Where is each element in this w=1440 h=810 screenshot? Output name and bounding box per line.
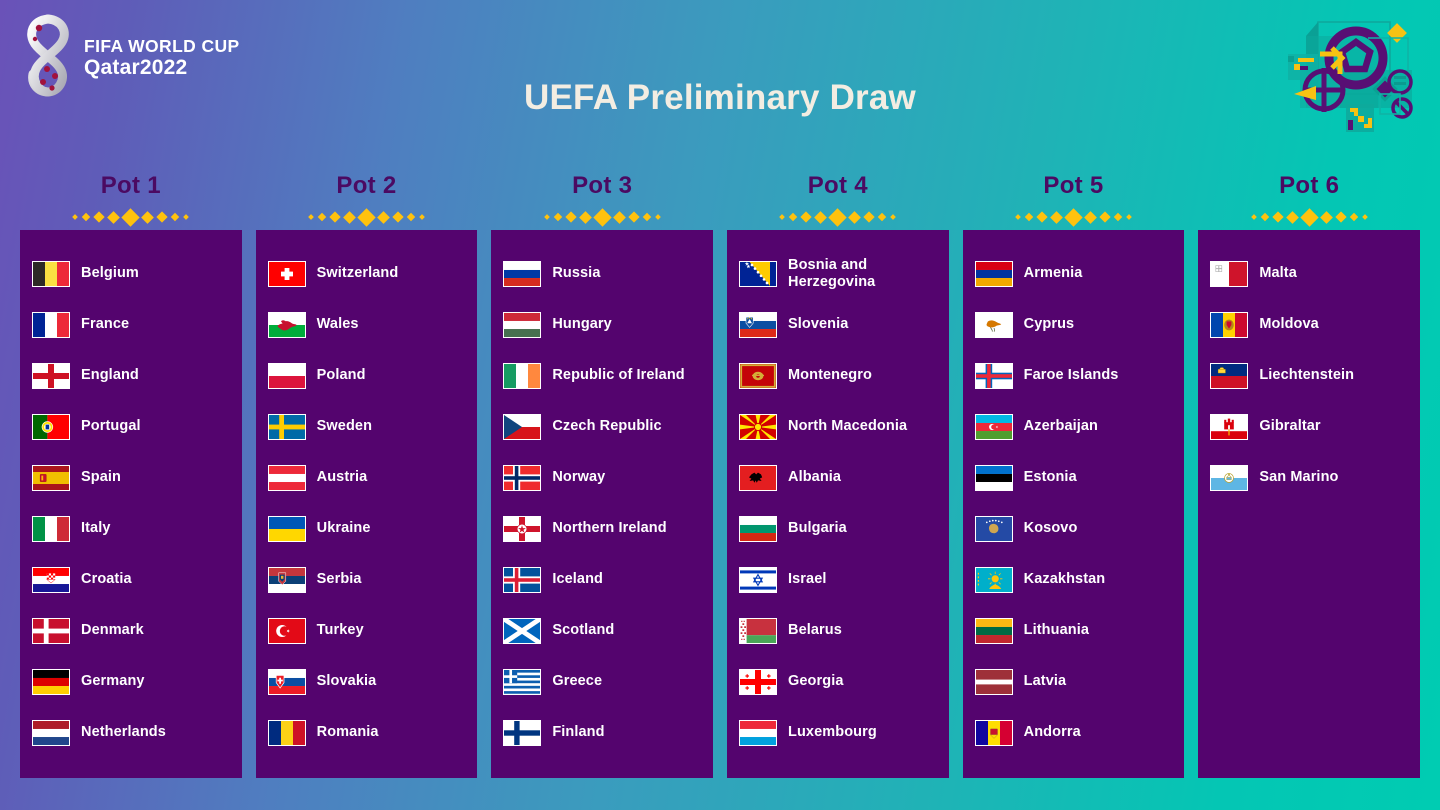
team-row[interactable]: France <box>32 299 230 350</box>
team-row[interactable]: North Macedonia <box>739 401 937 452</box>
pot-divider-diamonds <box>727 204 949 230</box>
team-row[interactable]: Portugal <box>32 401 230 452</box>
diamond-icon <box>407 213 415 221</box>
diamond-icon <box>1320 211 1333 224</box>
diamond-icon <box>357 208 375 226</box>
team-row[interactable]: Faroe Islands <box>975 350 1173 401</box>
team-name: Denmark <box>81 622 144 639</box>
team-name: Gibraltar <box>1259 418 1320 435</box>
diamond-icon <box>377 211 390 224</box>
diamond-icon <box>1335 211 1346 222</box>
team-row[interactable]: Sweden <box>268 401 466 452</box>
flag-czech-republic-icon <box>503 414 541 440</box>
team-name: Israel <box>788 571 827 588</box>
diamond-icon <box>82 213 90 221</box>
pot-title: Pot 5 <box>963 168 1185 204</box>
pot-panel: Bosnia and HerzegovinaSloveniaMontenegro… <box>727 230 949 778</box>
team-name: Albania <box>788 469 841 486</box>
team-row[interactable]: Slovakia <box>268 656 466 707</box>
diamond-icon <box>565 211 576 222</box>
pot-panel: ArmeniaCyprusFaroe IslandsAzerbaijanEsto… <box>963 230 1185 778</box>
flag-gibraltar-icon <box>1210 414 1248 440</box>
flag-malta-icon <box>1210 261 1248 287</box>
diamond-icon <box>1025 213 1033 221</box>
team-row[interactable]: Norway <box>503 452 701 503</box>
diamond-icon <box>553 213 561 221</box>
flag-belgium-icon <box>32 261 70 287</box>
flag-germany-icon <box>32 669 70 695</box>
team-name: Sweden <box>317 418 372 435</box>
team-name: Faroe Islands <box>1024 367 1119 384</box>
pot-column-1: Pot 1BelgiumFranceEnglandPortugalSpainIt… <box>20 168 242 778</box>
team-row[interactable]: Russia <box>503 248 701 299</box>
flag-scotland-icon <box>503 618 541 644</box>
diamond-icon <box>1099 211 1110 222</box>
team-name: Cyprus <box>1024 316 1075 333</box>
team-name: Iceland <box>552 571 603 588</box>
flag-northern-ireland-icon <box>503 516 541 542</box>
team-name: Belgium <box>81 265 139 282</box>
flag-luxembourg-icon <box>739 720 777 746</box>
pot-title: Pot 3 <box>491 168 713 204</box>
diamond-icon <box>1286 211 1299 224</box>
team-name: Austria <box>317 469 368 486</box>
team-name: Germany <box>81 673 145 690</box>
flag-austria-icon <box>268 465 306 491</box>
flag-bosnia-and-herzegovina-icon <box>739 261 777 287</box>
team-name: Ukraine <box>317 520 371 537</box>
pot-divider-diamonds <box>491 204 713 230</box>
team-name: Malta <box>1259 265 1297 282</box>
team-name: Bulgaria <box>788 520 847 537</box>
flag-bulgaria-icon <box>739 516 777 542</box>
team-row[interactable]: Serbia <box>268 554 466 605</box>
pot-column-4: Pot 4Bosnia and HerzegovinaSloveniaMonte… <box>727 168 949 778</box>
flag-england-icon <box>32 363 70 389</box>
team-name: Luxembourg <box>788 724 877 741</box>
page-header: FIFA WORLD CUP Qatar2022 UEFA Preliminar… <box>0 0 1440 165</box>
flag-italy-icon <box>32 516 70 542</box>
team-row[interactable]: Turkey <box>268 605 466 656</box>
pot-title: Pot 6 <box>1198 168 1420 204</box>
pot-divider-diamonds <box>1198 204 1420 230</box>
diamond-icon <box>848 211 861 224</box>
team-row[interactable]: Moldova <box>1210 299 1408 350</box>
team-row[interactable]: Israel <box>739 554 937 605</box>
team-name: Hungary <box>552 316 612 333</box>
diamond-icon <box>864 211 875 222</box>
team-name: Lithuania <box>1024 622 1089 639</box>
flag-armenia-icon <box>975 261 1013 287</box>
team-name: England <box>81 367 139 384</box>
team-name: Romania <box>317 724 379 741</box>
team-row[interactable]: Iceland <box>503 554 701 605</box>
team-row[interactable]: Italy <box>32 503 230 554</box>
flag-lithuania-icon <box>975 618 1013 644</box>
flag-portugal-icon <box>32 414 70 440</box>
team-name: Finland <box>552 724 604 741</box>
team-row[interactable]: Luxembourg <box>739 707 937 758</box>
team-name: Czech Republic <box>552 418 661 435</box>
fifa-wordmark-line2: Qatar2022 <box>84 56 240 80</box>
flag-moldova-icon <box>1210 312 1248 338</box>
team-name: Switzerland <box>317 265 399 282</box>
flag-cyprus-icon <box>975 312 1013 338</box>
team-name: Andorra <box>1024 724 1081 741</box>
pots-grid: Pot 1BelgiumFranceEnglandPortugalSpainIt… <box>20 168 1420 778</box>
team-name: Moldova <box>1259 316 1319 333</box>
team-row[interactable]: Estonia <box>975 452 1173 503</box>
flag-romania-icon <box>268 720 306 746</box>
team-row[interactable]: Hungary <box>503 299 701 350</box>
team-name: Croatia <box>81 571 132 588</box>
pot-divider-diamonds <box>256 204 478 230</box>
flag-israel-icon <box>739 567 777 593</box>
team-row[interactable]: Denmark <box>32 605 230 656</box>
diamond-icon <box>814 211 827 224</box>
team-row[interactable]: Bosnia and Herzegovina <box>739 248 937 299</box>
diamond-icon <box>1050 211 1063 224</box>
flag-russia-icon <box>503 261 541 287</box>
pot-title: Pot 4 <box>727 168 949 204</box>
team-row[interactable]: Armenia <box>975 248 1173 299</box>
team-name: Greece <box>552 673 602 690</box>
diamond-icon <box>890 214 896 220</box>
diamond-icon <box>329 211 340 222</box>
diamond-icon <box>1251 214 1257 220</box>
team-row[interactable]: Switzerland <box>268 248 466 299</box>
diamond-icon <box>141 211 154 224</box>
team-name: Scotland <box>552 622 614 639</box>
flag-azerbaijan-icon <box>975 414 1013 440</box>
team-name: Armenia <box>1024 265 1083 282</box>
fifa-wordmark-line1: FIFA WORLD CUP <box>84 37 240 56</box>
flag-slovenia-icon <box>739 312 777 338</box>
team-row[interactable]: Poland <box>268 350 466 401</box>
diamond-icon <box>157 211 168 222</box>
flag-hungary-icon <box>503 312 541 338</box>
team-row[interactable]: Greece <box>503 656 701 707</box>
diamond-icon <box>318 213 326 221</box>
team-row[interactable]: Netherlands <box>32 707 230 758</box>
team-row[interactable]: Cyprus <box>975 299 1173 350</box>
team-row[interactable]: Bulgaria <box>739 503 937 554</box>
pot-divider-diamonds <box>963 204 1185 230</box>
team-row[interactable]: Wales <box>268 299 466 350</box>
diamond-icon <box>1015 214 1021 220</box>
team-name: Norway <box>552 469 605 486</box>
team-name: Bosnia and Herzegovina <box>788 257 937 291</box>
team-name: Latvia <box>1024 673 1067 690</box>
team-row[interactable]: Montenegro <box>739 350 937 401</box>
pot-column-3: Pot 3RussiaHungaryRepublic of IrelandCze… <box>491 168 713 778</box>
flag-ukraine-icon <box>268 516 306 542</box>
pot-column-2: Pot 2SwitzerlandWalesPolandSwedenAustria… <box>256 168 478 778</box>
diamond-icon <box>628 211 639 222</box>
flag-belarus-icon <box>739 618 777 644</box>
team-name: Slovenia <box>788 316 848 333</box>
flag-finland-icon <box>503 720 541 746</box>
diamond-icon <box>1084 211 1097 224</box>
team-row[interactable]: Belarus <box>739 605 937 656</box>
pot-panel: SwitzerlandWalesPolandSwedenAustriaUkrai… <box>256 230 478 778</box>
flag-montenegro-icon <box>739 363 777 389</box>
qatar-2022-geometric-emblem <box>1280 12 1422 144</box>
team-row[interactable]: Gibraltar <box>1210 401 1408 452</box>
team-row[interactable]: Liechtenstein <box>1210 350 1408 401</box>
team-name: Montenegro <box>788 367 872 384</box>
fifa-wordmark: FIFA WORLD CUP Qatar2022 <box>84 33 240 79</box>
diamond-icon <box>801 211 812 222</box>
team-row[interactable]: Romania <box>268 707 466 758</box>
team-row[interactable]: Scotland <box>503 605 701 656</box>
team-row[interactable]: Finland <box>503 707 701 758</box>
flag-france-icon <box>32 312 70 338</box>
flag-switzerland-icon <box>268 261 306 287</box>
pot-panel: RussiaHungaryRepublic of IrelandCzech Re… <box>491 230 713 778</box>
team-name: Northern Ireland <box>552 520 666 537</box>
team-name: Georgia <box>788 673 844 690</box>
team-row[interactable]: San Marino <box>1210 452 1408 503</box>
team-row[interactable]: Andorra <box>975 707 1173 758</box>
team-row[interactable]: Malta <box>1210 248 1408 299</box>
diamond-icon <box>613 211 626 224</box>
diamond-icon <box>308 214 314 220</box>
flag-faroe-islands-icon <box>975 363 1013 389</box>
team-row[interactable]: Northern Ireland <box>503 503 701 554</box>
flag-georgia-icon <box>739 669 777 695</box>
flag-albania-icon <box>739 465 777 491</box>
diamond-icon <box>343 211 356 224</box>
team-name: Republic of Ireland <box>552 367 684 384</box>
diamond-icon <box>1114 213 1122 221</box>
diamond-icon <box>878 213 886 221</box>
diamond-icon <box>1362 214 1368 220</box>
team-name: Liechtenstein <box>1259 367 1354 384</box>
team-row[interactable]: Lithuania <box>975 605 1173 656</box>
team-row[interactable]: Slovenia <box>739 299 937 350</box>
diamond-icon <box>94 211 105 222</box>
team-name: Serbia <box>317 571 362 588</box>
diamond-icon <box>72 214 78 220</box>
team-row[interactable]: Kazakhstan <box>975 554 1173 605</box>
flag-netherlands-icon <box>32 720 70 746</box>
diamond-icon <box>642 213 650 221</box>
diamond-icon <box>419 214 425 220</box>
team-row[interactable]: Kosovo <box>975 503 1173 554</box>
flag-kazakhstan-icon <box>975 567 1013 593</box>
team-row[interactable]: Czech Republic <box>503 401 701 452</box>
diamond-icon <box>107 211 120 224</box>
flag-sweden-icon <box>268 414 306 440</box>
flag-ireland-icon <box>503 363 541 389</box>
diamond-icon <box>122 208 140 226</box>
diamond-icon <box>1260 213 1268 221</box>
flag-poland-icon <box>268 363 306 389</box>
team-name: Poland <box>317 367 366 384</box>
flag-turkey-icon <box>268 618 306 644</box>
team-name: Portugal <box>81 418 141 435</box>
team-row[interactable]: Croatia <box>32 554 230 605</box>
team-row[interactable]: Ukraine <box>268 503 466 554</box>
page-title: UEFA Preliminary Draw <box>0 78 1440 118</box>
team-row[interactable]: Latvia <box>975 656 1173 707</box>
team-name: Belarus <box>788 622 842 639</box>
team-row[interactable]: Azerbaijan <box>975 401 1173 452</box>
team-name: Kosovo <box>1024 520 1078 537</box>
team-row[interactable]: Belgium <box>32 248 230 299</box>
team-row[interactable]: Albania <box>739 452 937 503</box>
diamond-icon <box>789 213 797 221</box>
flag-andorra-icon <box>975 720 1013 746</box>
flag-san-marino-icon <box>1210 465 1248 491</box>
diamond-icon <box>829 208 847 226</box>
diamond-icon <box>655 214 661 220</box>
pot-title: Pot 1 <box>20 168 242 204</box>
flag-denmark-icon <box>32 618 70 644</box>
flag-liechtenstein-icon <box>1210 363 1248 389</box>
diamond-icon <box>392 211 403 222</box>
flag-greece-icon <box>503 669 541 695</box>
team-name: Turkey <box>317 622 364 639</box>
diamond-icon <box>1349 213 1357 221</box>
team-name: Italy <box>81 520 111 537</box>
team-name: Spain <box>81 469 121 486</box>
flag-wales-icon <box>268 312 306 338</box>
flag-spain-icon <box>32 465 70 491</box>
team-row[interactable]: England <box>32 350 230 401</box>
flag-croatia-icon <box>32 567 70 593</box>
diamond-icon <box>183 214 189 220</box>
diamond-icon <box>1300 208 1318 226</box>
team-name: Azerbaijan <box>1024 418 1098 435</box>
diamond-icon <box>544 214 550 220</box>
flag-north-macedonia-icon <box>739 414 777 440</box>
diamond-icon <box>779 214 785 220</box>
pot-panel: MaltaMoldovaLiechtensteinGibraltarSan Ma… <box>1198 230 1420 778</box>
diamond-icon <box>593 208 611 226</box>
flag-norway-icon <box>503 465 541 491</box>
team-name: Netherlands <box>81 724 166 741</box>
diamond-icon <box>1272 211 1283 222</box>
diamond-icon <box>171 213 179 221</box>
flag-estonia-icon <box>975 465 1013 491</box>
team-row[interactable]: Spain <box>32 452 230 503</box>
pot-panel: BelgiumFranceEnglandPortugalSpainItalyCr… <box>20 230 242 778</box>
flag-latvia-icon <box>975 669 1013 695</box>
flag-slovakia-icon <box>268 669 306 695</box>
flag-iceland-icon <box>503 567 541 593</box>
team-name: Russia <box>552 265 600 282</box>
team-row[interactable]: Georgia <box>739 656 937 707</box>
team-row[interactable]: Austria <box>268 452 466 503</box>
pot-column-6: Pot 6MaltaMoldovaLiechtensteinGibraltarS… <box>1198 168 1420 778</box>
team-name: San Marino <box>1259 469 1338 486</box>
team-name: France <box>81 316 129 333</box>
team-name: Estonia <box>1024 469 1077 486</box>
team-name: Slovakia <box>317 673 377 690</box>
pot-divider-diamonds <box>20 204 242 230</box>
diamond-icon <box>1036 211 1047 222</box>
diamond-icon <box>579 211 592 224</box>
flag-kosovo-icon <box>975 516 1013 542</box>
pot-title: Pot 2 <box>256 168 478 204</box>
team-name: North Macedonia <box>788 418 907 435</box>
team-row[interactable]: Germany <box>32 656 230 707</box>
flag-serbia-icon <box>268 567 306 593</box>
diamond-icon <box>1064 208 1082 226</box>
team-name: Kazakhstan <box>1024 571 1106 588</box>
diamond-icon <box>1126 214 1132 220</box>
team-row[interactable]: Republic of Ireland <box>503 350 701 401</box>
pot-column-5: Pot 5ArmeniaCyprusFaroe IslandsAzerbaija… <box>963 168 1185 778</box>
team-name: Wales <box>317 316 359 333</box>
